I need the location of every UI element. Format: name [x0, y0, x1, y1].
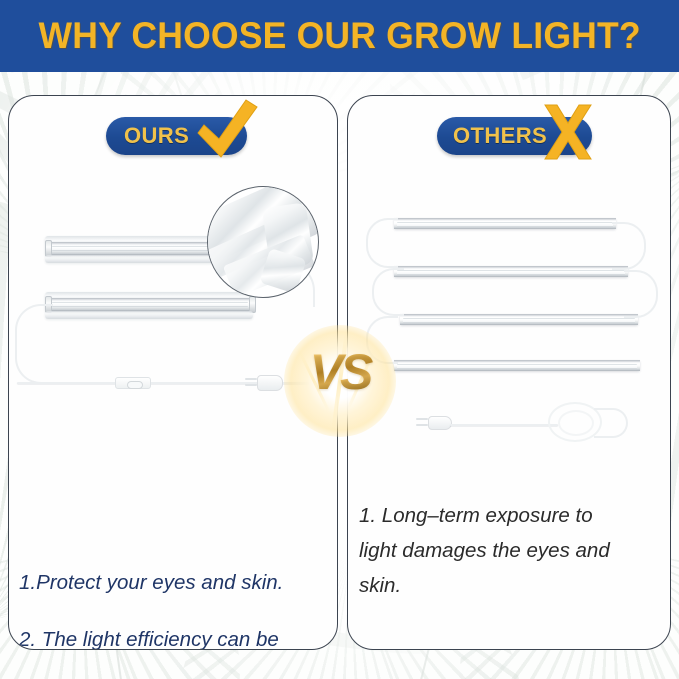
- others-bullet-1-line-3: skin.: [359, 571, 659, 602]
- comparison-panel-ours: 1.Protect your eyes and skin. 2. The lig…: [8, 95, 338, 650]
- others-drawbacks-text: 1. Long–term exposure to light damages t…: [359, 501, 659, 605]
- others-bullet-1-line-2: light damages the eyes and: [359, 536, 659, 567]
- inline-switch: [115, 377, 151, 389]
- page-title: WHY CHOOSE OUR GROW LIGHT?: [38, 15, 640, 57]
- others-label: OTHERS: [453, 123, 547, 149]
- comparison-panel-others: 1. Long–term exposure to light damages t…: [347, 95, 671, 650]
- reflector-detail-inset: [207, 186, 319, 298]
- ours-bullet-1: 1.Protect your eyes and skin.: [19, 568, 337, 599]
- badge-ours: OURS: [106, 117, 247, 155]
- feed-cable: [15, 304, 53, 384]
- others-pill: OTHERS: [437, 117, 592, 155]
- badge-others: OTHERS: [437, 117, 592, 155]
- infographic-root: WHY CHOOSE OUR GROW LIGHT?: [0, 0, 679, 679]
- header-banner: WHY CHOOSE OUR GROW LIGHT?: [0, 0, 679, 72]
- ours-bullet-2-line-1: 2. The light efficiency can be: [19, 625, 337, 650]
- ours-pill: OURS: [106, 117, 247, 155]
- others-bullet-1-line-1: 1. Long–term exposure to: [359, 501, 659, 532]
- ours-benefits-text: 1.Protect your eyes and skin. 2. The lig…: [19, 568, 337, 650]
- power-plug: [257, 375, 283, 391]
- power-plug-others: [428, 416, 452, 430]
- ours-label: OURS: [124, 123, 189, 149]
